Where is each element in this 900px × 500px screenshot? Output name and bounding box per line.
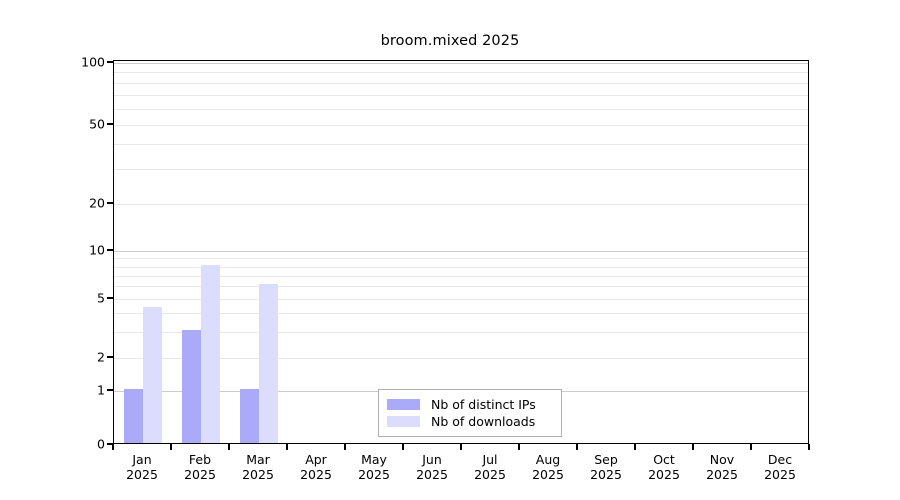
x-tick-month: Jan [126, 452, 158, 467]
bar-downloads [143, 307, 162, 443]
x-axis-tick-label: Jan2025 [126, 452, 158, 482]
legend-item: Nb of downloads [387, 413, 553, 430]
x-tick-year: 2025 [590, 467, 622, 482]
x-tick-year: 2025 [300, 467, 332, 482]
x-tick-year: 2025 [242, 467, 274, 482]
bar-downloads [259, 284, 278, 443]
gridline [114, 95, 808, 96]
x-tick-month: Dec [764, 452, 796, 467]
x-axis-tick-label: May2025 [358, 452, 390, 482]
y-axis-tick-label: 20 [89, 196, 105, 211]
x-axis-tick-label: Aug2025 [532, 452, 564, 482]
x-axis-tick-mark [170, 444, 172, 450]
legend-swatch-downloads [387, 416, 420, 427]
plot-area [113, 60, 809, 444]
gridline [114, 63, 808, 64]
gridline [114, 204, 808, 205]
bar-downloads [201, 265, 220, 444]
x-tick-year: 2025 [764, 467, 796, 482]
x-axis-tick-mark [808, 444, 810, 450]
legend-label-downloads: Nb of downloads [431, 414, 535, 429]
x-tick-month: Mar [242, 452, 274, 467]
x-axis-tick-mark [112, 444, 114, 450]
gridline [114, 72, 808, 73]
x-axis-tick-mark [228, 444, 230, 450]
x-tick-year: 2025 [474, 467, 506, 482]
chart-container: broom.mixed 2025 0125102050100 Jan2025Fe… [0, 0, 900, 500]
x-tick-year: 2025 [706, 467, 738, 482]
x-tick-month: Jul [474, 452, 506, 467]
x-axis-tick-label: Jun2025 [416, 452, 448, 482]
bar-distinct-ips [182, 330, 201, 443]
x-axis-tick-label: Dec2025 [764, 452, 796, 482]
y-axis-tick-label: 5 [97, 291, 105, 306]
x-axis-tick-label: Feb2025 [184, 452, 216, 482]
x-tick-month: Nov [706, 452, 738, 467]
x-axis-tick-mark [402, 444, 404, 450]
x-tick-year: 2025 [416, 467, 448, 482]
y-axis-tick-label: 2 [97, 350, 105, 365]
x-tick-year: 2025 [126, 467, 158, 482]
legend-item: Nb of distinct IPs [387, 396, 553, 413]
x-tick-month: Aug [532, 452, 564, 467]
y-axis-tick-label: 1 [97, 383, 105, 398]
x-axis-tick-mark [344, 444, 346, 450]
x-tick-month: Oct [648, 452, 680, 467]
bar-distinct-ips [124, 389, 143, 443]
y-axis-tick-label: 100 [81, 55, 105, 70]
x-tick-month: Sep [590, 452, 622, 467]
x-tick-month: Apr [300, 452, 332, 467]
x-axis-tick-label: Apr2025 [300, 452, 332, 482]
gridline [114, 109, 808, 110]
gridline [114, 258, 808, 259]
x-axis-tick-mark [576, 444, 578, 450]
y-axis-tick-label: 0 [97, 437, 105, 452]
bar-distinct-ips [240, 389, 259, 443]
x-axis-tick-mark [692, 444, 694, 450]
x-axis-tick-label: Nov2025 [706, 452, 738, 482]
gridline [114, 251, 808, 252]
x-axis-tick-label: Jul2025 [474, 452, 506, 482]
x-tick-year: 2025 [532, 467, 564, 482]
x-tick-month: Feb [184, 452, 216, 467]
gridline [114, 83, 808, 84]
chart-title: broom.mixed 2025 [0, 33, 900, 49]
gridline [114, 169, 808, 170]
chart-legend: Nb of distinct IPs Nb of downloads [378, 389, 562, 437]
y-axis-tick-label: 50 [89, 117, 105, 132]
gridline [114, 144, 808, 145]
y-axis-tick-label: 10 [89, 243, 105, 258]
x-axis-tick-label: Oct2025 [648, 452, 680, 482]
x-axis-tick-mark [460, 444, 462, 450]
legend-swatch-distinct-ips [387, 399, 420, 410]
x-axis-tick-mark [750, 444, 752, 450]
x-tick-month: Jun [416, 452, 448, 467]
gridline [114, 125, 808, 126]
x-tick-year: 2025 [358, 467, 390, 482]
x-axis-tick-mark [518, 444, 520, 450]
x-tick-year: 2025 [184, 467, 216, 482]
x-tick-year: 2025 [648, 467, 680, 482]
y-axis-tick-labels: 0125102050100 [55, 0, 105, 500]
x-axis-tick-label: Sep2025 [590, 452, 622, 482]
legend-label-distinct-ips: Nb of distinct IPs [431, 397, 536, 412]
x-tick-month: May [358, 452, 390, 467]
x-axis-tick-mark [634, 444, 636, 450]
x-axis-tick-label: Mar2025 [242, 452, 274, 482]
x-axis-tick-mark [286, 444, 288, 450]
